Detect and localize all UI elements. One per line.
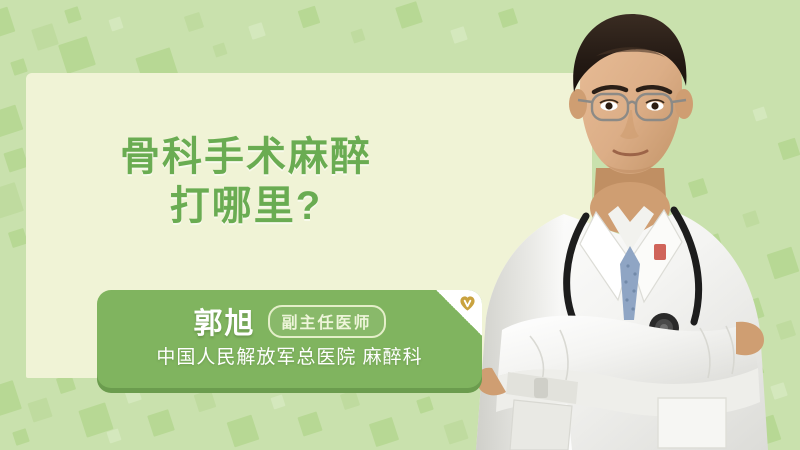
question-title-line-2: 打哪里? <box>26 182 466 231</box>
doctor-name-row: 郭旭 副主任医师 <box>97 300 482 342</box>
doctor-affiliation: 中国人民解放军总医院 麻醉科 <box>97 342 482 369</box>
doctor-name: 郭旭 <box>193 300 255 342</box>
doctor-info-bar[interactable]: 郭旭 副主任医师 中国人民解放军总医院 麻醉科 <box>97 290 482 388</box>
promo-card-root: 骨科手术麻醉 打哪里? 郭旭 副主任医师 中国人民解放军总医院 麻醉科 <box>0 0 800 450</box>
doctor-title-badge: 副主任医师 <box>268 305 386 338</box>
question-title-line-1: 骨科手术麻醉 <box>26 133 466 182</box>
doctor-photo <box>468 0 800 450</box>
question-title: 骨科手术麻醉 打哪里? <box>26 133 466 231</box>
